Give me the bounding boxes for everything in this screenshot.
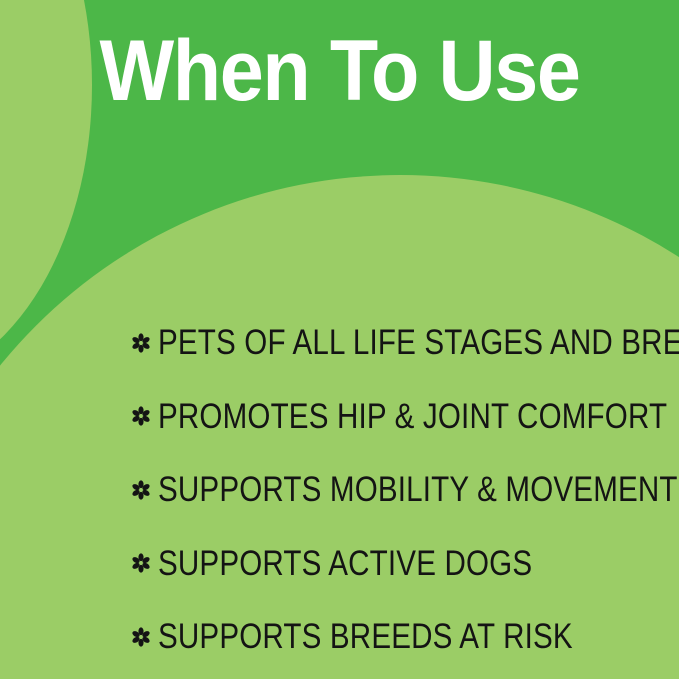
list-item: PROMOTES HIP & JOINT COMFORT	[131, 380, 671, 454]
flower-asterisk-icon	[131, 553, 151, 573]
list-item-label: PETS OF ALL LIFE STAGES AND BREEDS	[158, 325, 679, 360]
list-item: SUPPORTS ACTIVE DOGS	[131, 527, 671, 601]
list-item-label: SUPPORTS MOBILITY & MOVEMENT	[158, 472, 678, 507]
flower-asterisk-icon	[131, 333, 151, 353]
flower-asterisk-icon	[131, 480, 151, 500]
benefits-list: PETS OF ALL LIFE STAGES AND BREEDS PROMO…	[131, 306, 671, 674]
flower-asterisk-icon	[131, 627, 151, 647]
when-to-use-infographic: When To Use PETS OF ALL LIFE STAGES AND …	[0, 0, 679, 679]
flower-asterisk-icon	[131, 406, 151, 426]
list-item: SUPPORTS BREEDS AT RISK	[131, 600, 671, 674]
list-item: SUPPORTS MOBILITY & MOVEMENT	[131, 453, 671, 527]
list-item-label: PROMOTES HIP & JOINT COMFORT	[158, 399, 667, 434]
page-title: When To Use	[27, 28, 652, 114]
list-item-label: SUPPORTS ACTIVE DOGS	[158, 546, 532, 581]
list-item: PETS OF ALL LIFE STAGES AND BREEDS	[131, 306, 671, 380]
list-item-label: SUPPORTS BREEDS AT RISK	[158, 619, 573, 654]
